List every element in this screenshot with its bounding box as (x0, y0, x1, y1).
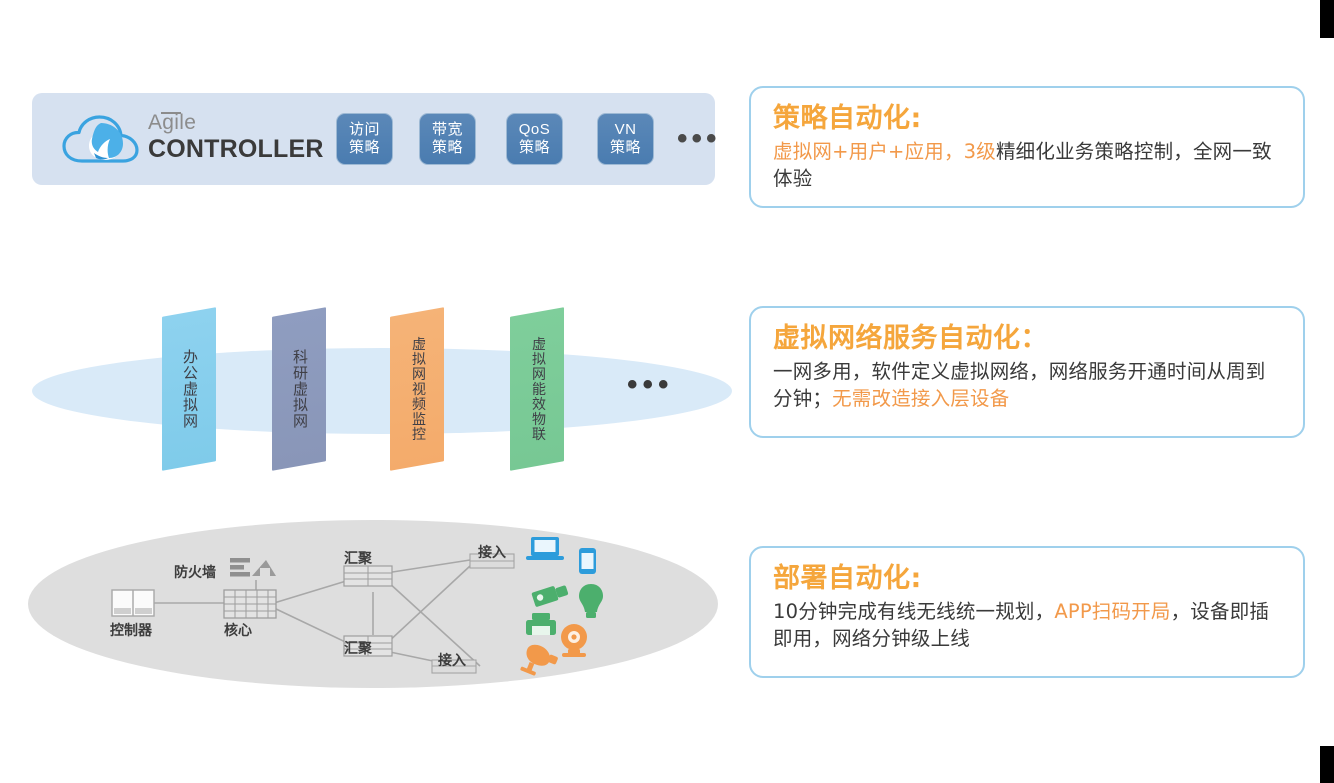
policy-button-bandwidth[interactable]: 带宽 策略 (419, 113, 476, 165)
policy-button-vn[interactable]: VN 策略 (597, 113, 654, 165)
policy-more-ellipsis[interactable]: ••• (677, 130, 721, 148)
logo-wordmark: Agile CONTROLLER (148, 111, 324, 163)
plane-label-video: 虚拟网 视频监控 (409, 337, 426, 442)
agile-controller-logo: Agile CONTROLLER (60, 107, 315, 171)
feature-body-vn-service-automation: 一网多用，软件定义虚拟网络，网络服务开通时间从周到分钟；无需改造接入层设备 (773, 358, 1283, 412)
printer-icon (526, 613, 556, 635)
slide-root: Agile CONTROLLER 访问 策略 带宽 策略 QoS 策略 VN 策… (0, 0, 1334, 783)
virtual-network-plane-iot: 虚拟网 能效物联 (510, 307, 564, 471)
logo-controller-label: CONTROLLER (148, 136, 324, 163)
top-right-black-strip (1320, 0, 1334, 38)
feature-title-deployment-automation: 部署自动化: (773, 562, 1283, 596)
laptop-icon (526, 537, 564, 560)
feature-body-deployment-automation: 10分钟完成有线无线统一规划，APP扫码开局，设备即插即用，网络分钟级上线 (773, 598, 1283, 652)
feature-text-segment-0-0: 虚拟网+用户+应用，3级 (773, 140, 996, 163)
topology-label-core: 核心 (224, 620, 252, 640)
feature-title-policy-automation: 策略自动化: (773, 102, 1283, 136)
webcam-icon (561, 624, 587, 657)
logo-agile-text: Agile (148, 111, 196, 135)
topology-stage: 控制器 防火墙 核心 汇聚 汇聚 接入 接入 (28, 520, 718, 690)
policy-button-qos[interactable]: QoS 策略 (506, 113, 563, 165)
plane-label-office: 办公虚拟网 (180, 349, 199, 429)
feature-body-policy-automation: 虚拟网+用户+应用，3级精细化业务策略控制，全网一致体验 (773, 138, 1283, 192)
feature-panel-deployment-automation: 部署自动化: 10分钟完成有线无线统一规划，APP扫码开局，设备即插即用，网络分… (749, 546, 1305, 678)
topology-label-firewall: 防火墙 (174, 562, 216, 582)
topology-label-controller: 控制器 (110, 620, 152, 640)
topology-label-aggregation-2: 汇聚 (344, 638, 372, 658)
policy-button-access[interactable]: 访问 策略 (336, 113, 393, 165)
core-switch-icon (224, 590, 276, 618)
cloud-icon (60, 113, 144, 167)
virtual-network-plane-office: 办公虚拟网 (162, 307, 216, 471)
virtual-network-stage: 办公虚拟网 科研虚拟网 虚拟网 视频监控 虚拟网 能效物联 ••• (32, 290, 732, 490)
policy-button-bandwidth-line2: 策略 (432, 139, 463, 157)
feature-text-segment-2-1: APP扫码开局 (1054, 600, 1170, 623)
topology-label-access-2: 接入 (438, 650, 466, 670)
tablet-icon (579, 548, 596, 574)
feature-title-vn-service-automation: 虚拟网络服务自动化： (773, 322, 1283, 356)
policy-button-qos-line2: 策略 (519, 139, 550, 157)
feature-text-segment-1-1: 无需改造接入层设备 (832, 387, 1009, 410)
sensor-icon (531, 582, 569, 607)
firewall-icon (230, 558, 276, 577)
topology-label-access-1: 接入 (478, 542, 506, 562)
policy-button-vn-line2: 策略 (610, 139, 641, 157)
policy-button-access-line2: 策略 (349, 139, 380, 157)
policy-button-vn-line1: VN (615, 121, 637, 139)
plane-label-research: 科研虚拟网 (290, 349, 309, 429)
feature-panel-vn-service-automation: 虚拟网络服务自动化： 一网多用，软件定义虚拟网络，网络服务开通时间从周到分钟；无… (749, 306, 1305, 438)
dome-camera-icon (519, 642, 560, 682)
policy-button-bandwidth-line1: 带宽 (432, 121, 463, 139)
policy-button-qos-line1: QoS (519, 121, 551, 139)
feature-text-segment-2-0: 10分钟完成有线无线统一规划， (773, 600, 1054, 623)
agile-controller-bar: Agile CONTROLLER 访问 策略 带宽 策略 QoS 策略 VN 策… (32, 93, 715, 185)
bottom-right-black-strip (1320, 746, 1334, 783)
feature-panel-policy-automation: 策略自动化: 虚拟网+用户+应用，3级精细化业务策略控制，全网一致体验 (749, 86, 1305, 208)
policy-button-access-line1: 访问 (349, 121, 380, 139)
virtual-network-plane-research: 科研虚拟网 (272, 307, 326, 471)
topology-label-aggregation-1: 汇聚 (344, 548, 372, 568)
topology-diagram (28, 520, 718, 688)
lamp-icon (579, 584, 603, 618)
virtual-network-more-ellipsis[interactable]: ••• (627, 375, 674, 395)
aggregation-switch-1-icon (344, 566, 392, 586)
logo-agile-label: Agile (148, 111, 196, 134)
controller-icon (112, 590, 154, 616)
virtual-network-plane-video: 虚拟网 视频监控 (390, 307, 444, 471)
plane-label-iot: 虚拟网 能效物联 (529, 337, 546, 442)
agile-overbar (161, 112, 181, 114)
